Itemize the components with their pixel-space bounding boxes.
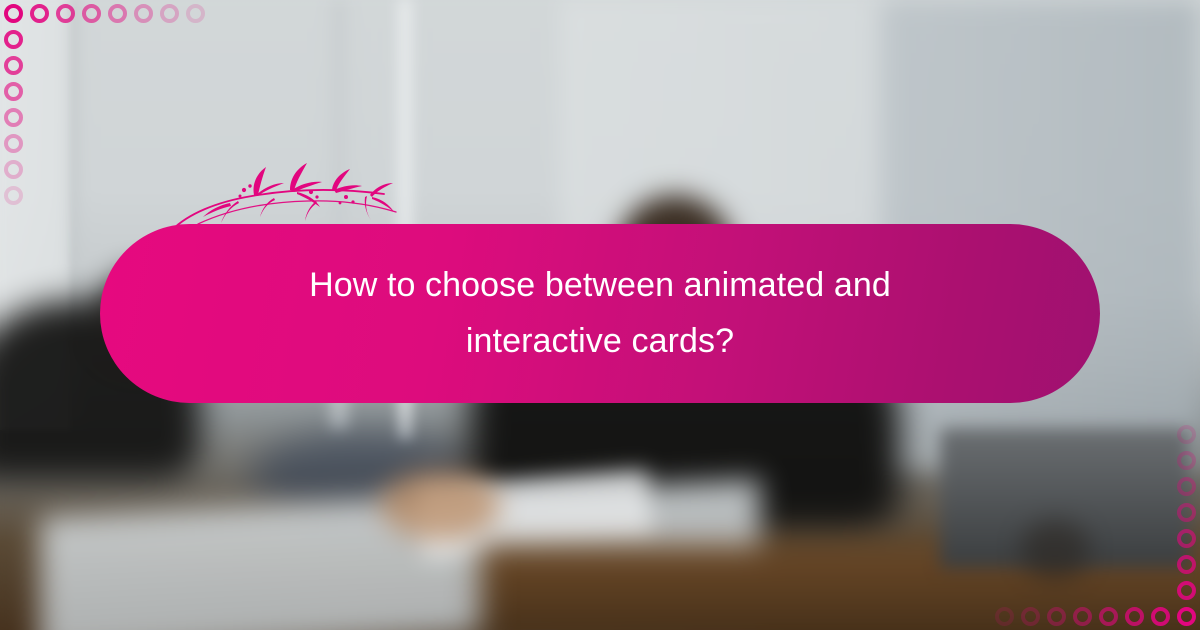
question-pill: How to choose between animated and inter…	[100, 224, 1100, 403]
decorative-circle	[995, 607, 1014, 626]
decorative-circle	[1073, 607, 1092, 626]
decorative-circle	[82, 4, 101, 23]
decorative-circle	[1099, 607, 1118, 626]
decorative-circle	[4, 134, 23, 153]
decorative-circle	[108, 4, 127, 23]
floral-branch-icon	[170, 152, 410, 232]
decorative-circle	[56, 4, 75, 23]
decorative-circle	[134, 4, 153, 23]
decorative-circle	[1047, 607, 1066, 626]
decorative-circle	[1151, 607, 1170, 626]
decorative-circle	[4, 82, 23, 101]
decorative-circle	[4, 30, 23, 49]
page-title-line-2: interactive cards?	[466, 322, 734, 360]
decorative-circle	[4, 4, 23, 23]
page-title-line-1: How to choose between animated and	[309, 266, 891, 304]
decorative-circle	[1177, 451, 1196, 470]
decorative-circle	[1177, 581, 1196, 600]
decorative-circle	[4, 186, 23, 205]
decorative-circle	[30, 4, 49, 23]
decorative-circle	[1177, 503, 1196, 522]
decorative-circle	[4, 160, 23, 179]
decorative-circle	[1177, 529, 1196, 548]
decorative-circle	[1021, 607, 1040, 626]
decorative-circle	[1177, 555, 1196, 574]
decorative-circle	[186, 4, 205, 23]
decorative-circle	[1177, 425, 1196, 444]
decorative-circle	[1125, 607, 1144, 626]
decorative-circle	[160, 4, 179, 23]
decorative-circle	[4, 108, 23, 127]
page-title: How to choose between animated and inter…	[250, 258, 950, 368]
decorative-circle	[1177, 477, 1196, 496]
decorative-circle	[1177, 607, 1196, 626]
decorative-circle	[4, 56, 23, 75]
question-card-banner: How to choose between animated and inter…	[0, 0, 1200, 630]
